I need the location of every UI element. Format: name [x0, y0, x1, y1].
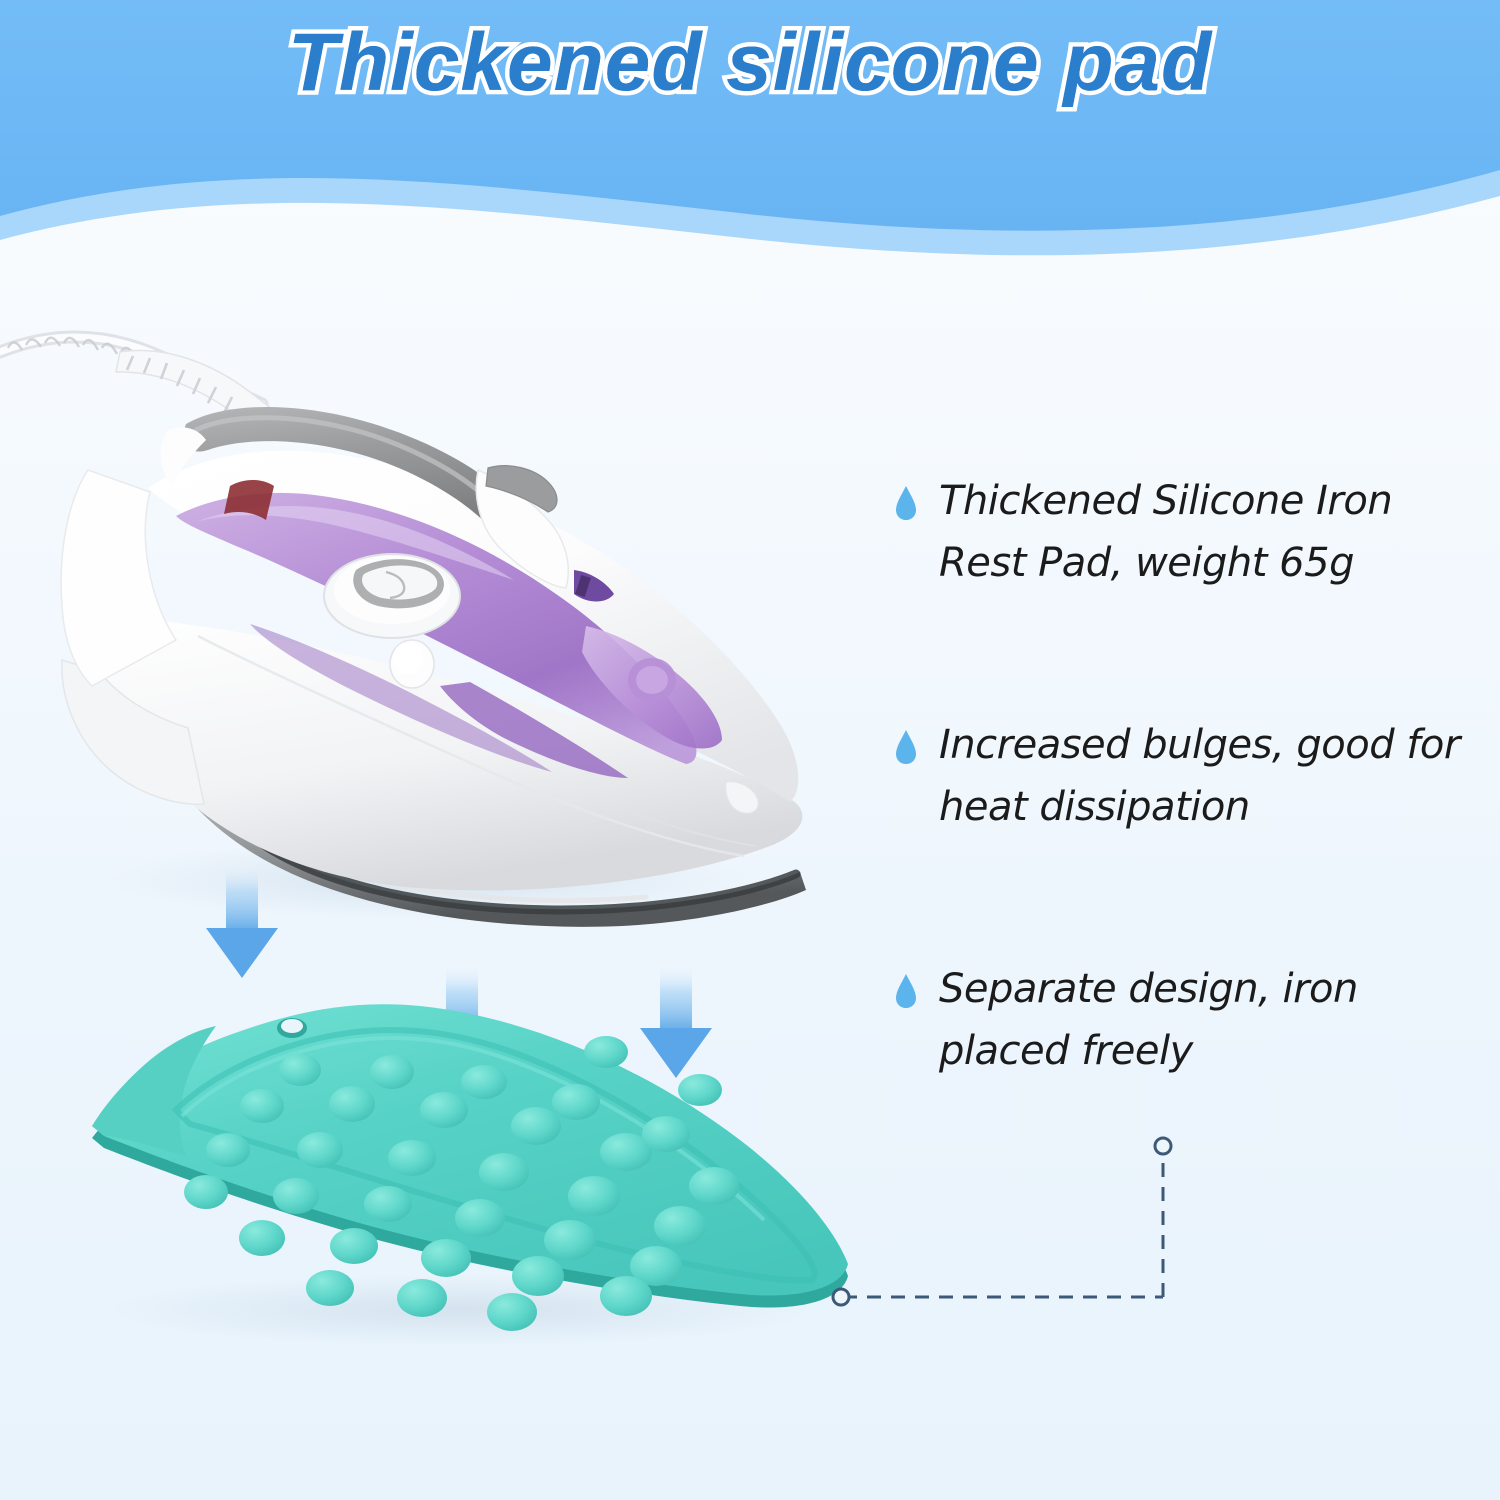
pad-shadow: [100, 1274, 820, 1346]
spray-nozzle: [628, 658, 676, 702]
down-arrow: [426, 960, 498, 1078]
list-item: Thickened Silicone Iron Rest Pad, weight…: [895, 470, 1480, 594]
list-item: Increased bulges, good for heat dissipat…: [895, 714, 1480, 838]
handle-rear-post: [161, 427, 206, 486]
power-cord: [0, 337, 288, 440]
iron-heel: [61, 470, 176, 686]
callout-endpoint: [1155, 1138, 1171, 1154]
water-drop-icon: [895, 486, 917, 520]
list-item-label: Increased bulges, good for heat dissipat…: [939, 714, 1480, 838]
pad-bumps: [184, 1036, 739, 1331]
pad-surface: [92, 1004, 848, 1295]
iron-soleplate-rim: [156, 706, 796, 910]
steam-selector: [574, 570, 614, 602]
front-tab: [726, 782, 759, 814]
product-infographic: Thickened silicone pad Thickened silicon…: [0, 0, 1500, 1500]
water-drop-icon: [895, 974, 917, 1008]
spray-nozzle-window: [582, 626, 722, 749]
iron-handle: [183, 407, 511, 530]
down-arrow: [206, 860, 278, 978]
list-item: Separate design, iron placed freely: [895, 958, 1480, 1082]
dimension-callout: [833, 1138, 1171, 1305]
iron-soleplate: [146, 700, 806, 927]
iron-water-tank: [176, 493, 697, 764]
list-item-label: Thickened Silicone Iron Rest Pad, weight…: [939, 470, 1480, 594]
list-item-label: Separate design, iron placed freely: [939, 958, 1480, 1082]
silicone-iron-rest-pad: [92, 1004, 848, 1331]
feature-list: Thickened Silicone Iron Rest Pad, weight…: [895, 470, 1480, 1082]
iron-rear-base: [62, 660, 204, 804]
header-banner: Thickened silicone pad Thickened silicon…: [0, 0, 1500, 270]
iron-body-upper: [148, 451, 798, 802]
cord-strain-relief: [116, 350, 288, 440]
callout-endpoint: [833, 1289, 849, 1305]
temperature-dial: [324, 554, 460, 638]
handle-front-post: [476, 470, 568, 588]
iron-body-lower: [92, 616, 802, 891]
steam-iron: [61, 407, 806, 927]
water-drop-icon: [895, 730, 917, 764]
down-arrow-group: [206, 860, 712, 1078]
spray-button: [390, 640, 434, 688]
steam-burst-button: [486, 466, 557, 512]
pad-tab: [92, 1026, 216, 1156]
pad-hanging-hole: [277, 1018, 307, 1038]
down-arrow: [640, 960, 712, 1078]
pad-inner-rim: [176, 1030, 814, 1281]
indicator-light: [224, 480, 274, 520]
iron-shadow: [100, 840, 760, 920]
tank-accent: [440, 682, 628, 778]
pad-thickness: [92, 1016, 848, 1307]
page-title: Thickened silicone pad: [0, 16, 1500, 110]
